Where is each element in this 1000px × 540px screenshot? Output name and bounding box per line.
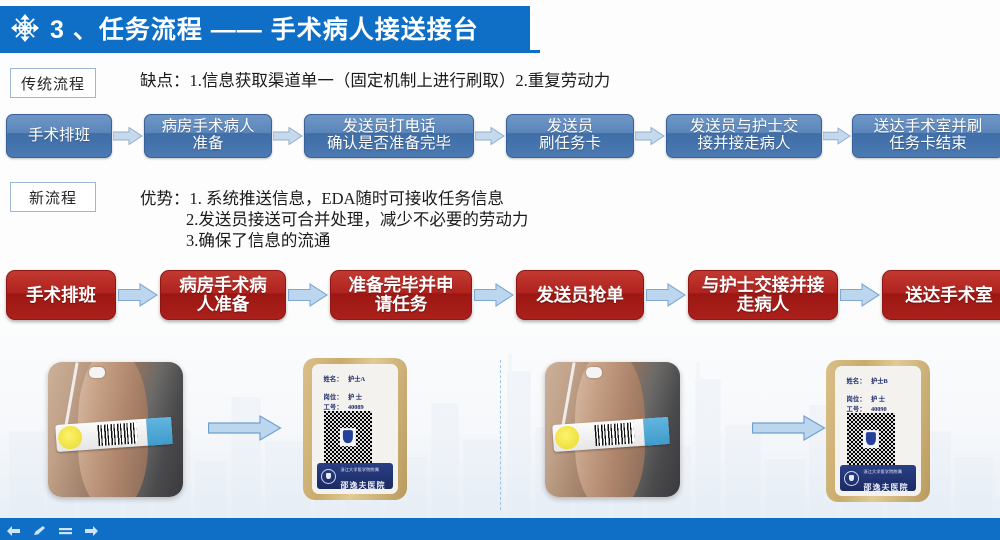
- new-arrow-5: [838, 283, 882, 307]
- new-flow-row: 手术排班 病房手术病 人准备 准备完毕并申 请任务 发送员抢单 与护士交接并接 …: [6, 268, 1000, 322]
- old-arrow-4: [634, 127, 666, 145]
- title-underline: [0, 50, 540, 53]
- old-step-4-line1: 发送员: [547, 119, 594, 136]
- card2-hospital-sub: 浙江大学医学院附属: [863, 469, 902, 474]
- page-title: 3 、任务流程 —— 手术病人接送接台: [50, 10, 479, 46]
- card1-post-value: 护 士: [348, 393, 362, 403]
- old-step-2-line2: 准备: [192, 136, 223, 153]
- card2-qr-logo-icon: [863, 430, 879, 448]
- wristband-logo-icon-2: [555, 425, 580, 450]
- card2-post-label: 岗位：: [846, 395, 866, 405]
- card1-qr-logo-icon: [340, 428, 356, 446]
- patient-wristband-photo-1: [48, 362, 183, 497]
- old-arrow-1: [112, 127, 144, 145]
- new-flow-tag: 新流程: [10, 182, 96, 212]
- card2-hospital-main: 邵逸夫医院: [863, 483, 908, 492]
- footer-icon-group: [6, 525, 99, 537]
- new-step-4[interactable]: 发送员抢单: [516, 270, 644, 320]
- old-step-6-line1: 送达手术室并刷: [874, 119, 983, 136]
- new-step-6[interactable]: 送达手术室: [882, 270, 1000, 320]
- new-flow-note-line-3: 3.确保了信息的流通: [140, 230, 528, 251]
- new-step-3-line2: 请任务: [375, 295, 428, 314]
- old-step-4-line2: 刷任务卡: [539, 136, 601, 153]
- wristband-barcode: [97, 422, 138, 446]
- old-arrow-5: [822, 127, 852, 145]
- new-step-6-line1: 送达手术室: [905, 286, 993, 305]
- old-step-6-line2: 任务卡结束: [889, 136, 967, 153]
- slide-title-bar: 3 、任务流程 —— 手术病人接送接台: [0, 6, 530, 50]
- new-arrow-3: [472, 283, 516, 307]
- wristband-barcode-2: [594, 422, 635, 446]
- new-arrow-1: [116, 283, 160, 307]
- new-arrow-2: [286, 283, 330, 307]
- staff-id-card-1: 姓名： 护士A 岗位： 护 士 工号： 40089: [303, 358, 407, 500]
- old-step-2-line1: 病房手术病人: [161, 119, 254, 136]
- old-step-3[interactable]: 发送员打电话 确认是否准备完毕: [304, 114, 474, 158]
- new-flow-note: 优势：1. 系统推送信息，EDA随时可接收任务信息 2.发送员接送可合并处理，减…: [140, 188, 528, 251]
- slide-canvas: 3 、任务流程 —— 手术病人接送接台 传统流程 缺点：1.信息获取渠道单一（固…: [0, 0, 1000, 540]
- old-step-6[interactable]: 送达手术室并刷 任务卡结束: [852, 114, 1000, 158]
- old-step-4[interactable]: 发送员 刷任务卡: [506, 114, 634, 158]
- card1-hospital-seal-icon: [321, 469, 336, 484]
- center-divider: [500, 360, 501, 510]
- old-step-5-line1: 发送员与护士交: [690, 119, 799, 136]
- new-step-2[interactable]: 病房手术病 人准备: [160, 270, 286, 320]
- new-step-1[interactable]: 手术排班: [6, 270, 116, 320]
- card2-hospital-seal-icon: [844, 471, 859, 486]
- card2-qr-code: [847, 413, 895, 465]
- old-step-1[interactable]: 手术排班: [6, 114, 112, 158]
- pencil-icon: [32, 525, 47, 537]
- back-arrow-icon: [6, 525, 21, 537]
- new-flow-note-line-1: 优势：1. 系统推送信息，EDA随时可接收任务信息: [140, 188, 528, 209]
- photo-arrow-1: [208, 414, 282, 447]
- forward-arrow-icon: [84, 525, 99, 537]
- list-icon: [58, 525, 73, 537]
- new-step-4-line1: 发送员抢单: [536, 286, 624, 305]
- card1-name-value: 护士A: [348, 375, 365, 385]
- wristband-logo-icon: [58, 425, 83, 450]
- old-step-3-line1: 发送员打电话: [342, 119, 435, 136]
- old-flow-tag: 传统流程: [10, 68, 96, 98]
- old-step-2[interactable]: 病房手术病人 准备: [144, 114, 272, 158]
- new-arrow-4: [644, 283, 688, 307]
- footer-bar: [0, 518, 1000, 540]
- new-step-2-line1: 病房手术病: [179, 276, 267, 295]
- new-step-5[interactable]: 与护士交接并接 走病人: [688, 270, 838, 320]
- old-step-3-line2: 确认是否准备完毕: [327, 136, 451, 153]
- new-flow-note-line-2: 2.发送员接送可合并处理，减少不必要的劳动力: [140, 209, 528, 230]
- old-flow-row: 手术排班 病房手术病人 准备 发送员打电话 确认是否准备完毕 发送员 刷任务卡 …: [6, 112, 1000, 160]
- old-step-1-line1: 手术排班: [28, 128, 90, 145]
- card1-name-label: 姓名：: [323, 375, 343, 385]
- new-step-3-line1: 准备完毕并申: [349, 276, 454, 295]
- card2-name-value: 护士B: [871, 377, 888, 387]
- patient-wristband-photo-2: [545, 362, 680, 497]
- card2-name-label: 姓名：: [846, 377, 866, 387]
- new-step-3[interactable]: 准备完毕并申 请任务: [330, 270, 472, 320]
- new-step-5-line1: 与护士交接并接: [702, 276, 825, 295]
- old-step-5[interactable]: 发送员与护士交 接并接走病人: [666, 114, 822, 158]
- staff-id-card-2: 姓名： 护士B 岗位： 护 士 工号： 40090: [826, 360, 930, 502]
- photo-arrow-2: [752, 414, 826, 447]
- old-arrow-3: [474, 127, 506, 145]
- old-arrow-2: [272, 127, 304, 145]
- new-step-1-line1: 手术排班: [26, 286, 96, 305]
- old-step-5-line2: 接并接走病人: [697, 136, 790, 153]
- card1-hospital-sub: 浙江大学医学院附属: [340, 467, 379, 472]
- card1-post-label: 岗位：: [323, 393, 343, 403]
- new-step-2-line2: 人准备: [197, 295, 250, 314]
- new-step-5-line2: 走病人: [737, 295, 790, 314]
- card1-qr-code: [324, 411, 372, 463]
- old-flow-note: 缺点：1.信息获取渠道单一（固定机制上进行刷取）2.重复劳动力: [140, 70, 610, 91]
- card1-hospital-main: 邵逸夫医院: [340, 481, 385, 490]
- card2-post-value: 护 士: [871, 395, 885, 405]
- ships-wheel-icon: [0, 13, 50, 43]
